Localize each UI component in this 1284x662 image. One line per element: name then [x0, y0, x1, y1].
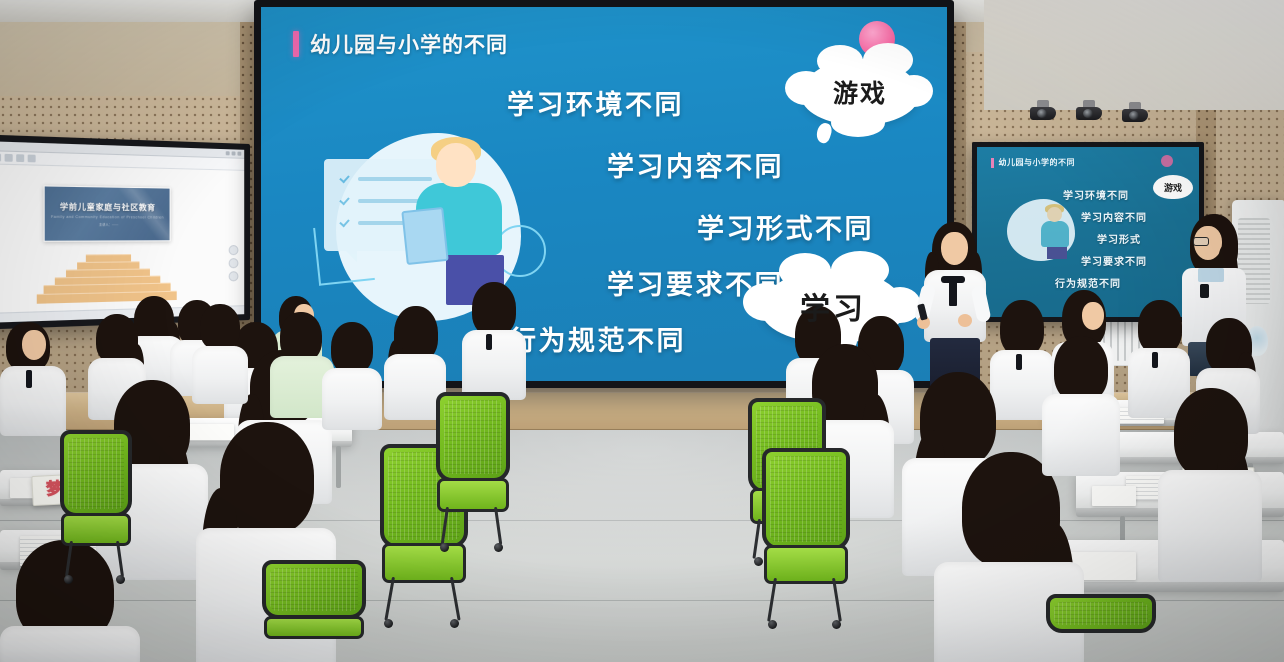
chair-legs	[60, 541, 132, 580]
chair-back	[60, 430, 132, 517]
glasses	[1193, 237, 1209, 246]
check-icon	[339, 195, 349, 206]
camera-body	[1030, 107, 1056, 120]
thought-bubble-game: 游戏	[1153, 175, 1193, 199]
slide-subtitle: Family and Community Education of Presch…	[51, 215, 164, 220]
classroom-chair[interactable]	[60, 430, 132, 580]
ceiling-right-corner	[984, 0, 1284, 110]
chair-seat	[264, 616, 364, 638]
slide-author: 主讲人：——	[99, 222, 118, 226]
select-tool-icon[interactable]	[229, 271, 239, 281]
chair-back	[262, 560, 366, 619]
pink-circle-decoration	[1161, 155, 1173, 167]
slide-title-row: 幼儿园与小学的不同	[293, 29, 508, 59]
illustration-body	[1041, 221, 1069, 247]
pen-tool-icon[interactable]	[229, 245, 239, 255]
toolbar-icon[interactable]	[28, 155, 36, 163]
hand	[958, 314, 972, 327]
seated-student	[0, 322, 66, 440]
slide-preview[interactable]: 学前儿童家庭与社区教育 Family and Community Educati…	[44, 185, 171, 241]
toolbar-icon[interactable]	[5, 154, 13, 162]
mirrored-slide-title-row: 幼儿园与小学的不同	[991, 157, 1075, 168]
presentation-editor-window[interactable]: 学前儿童家庭与社区教育 Family and Community Educati…	[0, 141, 244, 323]
camera-lens-icon	[1037, 109, 1047, 118]
chair-caster	[64, 575, 73, 584]
chair-legs	[762, 578, 850, 624]
seated-student	[192, 304, 248, 408]
lanyard-microphone	[1200, 284, 1209, 298]
classroom-chair[interactable]	[436, 392, 510, 548]
seated-student	[322, 322, 382, 434]
neck-ribbon-bow	[941, 276, 965, 283]
chair-legs	[380, 577, 468, 624]
classroom-scene: 学前儿童家庭与社区教育 Family and Community Educati…	[0, 0, 1284, 662]
thought-bubble-game: 游戏	[801, 59, 919, 125]
ptz-camera	[1076, 100, 1102, 122]
mirrored-illustration	[1007, 199, 1075, 261]
classroom-chair[interactable]	[762, 448, 850, 624]
mirrored-bullet: 学习环境不同	[1063, 187, 1129, 202]
mirrored-bullet: 行为规范不同	[1055, 275, 1121, 290]
ptz-camera	[1030, 100, 1056, 122]
seated-student	[1042, 336, 1120, 476]
seated-student	[1158, 388, 1262, 580]
thought-bubble-label: 游戏	[1164, 181, 1182, 194]
mirrored-slide-title: 幼儿园与小学的不同	[999, 157, 1076, 168]
eraser-tool-icon[interactable]	[229, 258, 239, 268]
slide-bullet: 行为规范不同	[509, 319, 686, 358]
classroom-chair[interactable]	[1046, 594, 1156, 662]
chair-caster	[116, 575, 125, 584]
slide-bullet: 学习环境不同	[507, 83, 684, 122]
table-leg	[336, 446, 341, 488]
maximize-icon[interactable]	[232, 151, 236, 155]
chair-back	[436, 392, 510, 482]
slide-title: 学前儿童家庭与社区教育	[60, 201, 156, 214]
illustration-head	[436, 143, 476, 187]
check-icon	[339, 217, 349, 228]
illustration-head	[1047, 207, 1062, 222]
mirrored-bullet: 学习内容不同	[1081, 209, 1147, 224]
slide-bullet: 学习内容不同	[607, 145, 784, 184]
mirrored-bullet: 学习要求不同	[1081, 253, 1147, 268]
toolbar-icon[interactable]	[0, 154, 1, 162]
minimize-icon[interactable]	[226, 151, 230, 155]
chair-legs	[436, 507, 510, 548]
editor-canvas[interactable]: 学前儿童家庭与社区教育 Family and Community Educati…	[0, 164, 244, 313]
page-title: 幼儿园与小学的不同	[310, 29, 508, 59]
title-accent-bar	[293, 31, 299, 57]
paper-sheet	[1092, 486, 1136, 506]
mirrored-bullet: 学习形式	[1097, 231, 1141, 246]
toolbar-icon[interactable]	[16, 154, 24, 162]
classroom-chair[interactable]	[262, 560, 366, 662]
camera-lens-icon	[1083, 109, 1093, 118]
title-accent-bar	[991, 158, 994, 168]
chair-back	[1046, 594, 1156, 633]
camera-body	[1122, 109, 1148, 122]
inner-top	[1198, 268, 1224, 282]
thought-bubble-label: 游戏	[833, 74, 887, 110]
camera-body	[1076, 107, 1102, 120]
seated-student	[462, 282, 526, 404]
slide-bullet: 学习形式不同	[697, 207, 874, 246]
ptz-camera	[1122, 102, 1148, 124]
face	[941, 232, 968, 265]
check-icon	[339, 173, 349, 184]
chair-back	[762, 448, 850, 550]
illustration-tablet	[401, 207, 448, 265]
thought-bubble-label: 学习	[800, 284, 866, 328]
close-icon[interactable]	[237, 152, 241, 156]
camera-lens-icon	[1129, 111, 1139, 120]
canvas-tool-palette[interactable]	[228, 245, 240, 281]
